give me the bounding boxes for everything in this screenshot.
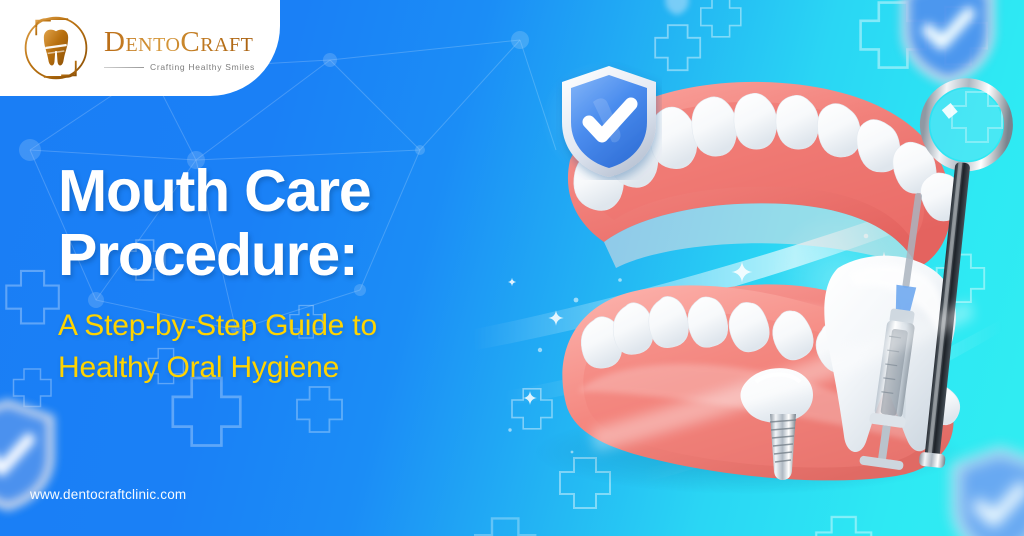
headline-line-1: Mouth Care: [58, 158, 371, 224]
dental-marketing-banner: DentoCraft Crafting Healthy Smiles Mouth…: [0, 0, 1024, 536]
hero-copy: Mouth Care Procedure: A Step-by-Step Gui…: [58, 160, 578, 388]
website-url[interactable]: www.dentocraftclinic.com: [30, 487, 186, 502]
page-subtitle: A Step-by-Step Guide to Healthy Oral Hyg…: [58, 305, 578, 388]
brand-logo: DentoCraft Crafting Healthy Smiles: [18, 10, 255, 86]
tooth-emblem-icon: [18, 10, 94, 86]
subhead-line-1: A Step-by-Step Guide to: [58, 309, 377, 342]
brand-tagline: Crafting Healthy Smiles: [150, 62, 255, 72]
brand-tagline-row: Crafting Healthy Smiles: [104, 62, 255, 72]
page-title: Mouth Care Procedure:: [58, 160, 578, 287]
shield-check-badge-icon: [556, 62, 662, 180]
brand-name: DentoCraft: [104, 28, 255, 57]
headline-line-2: Procedure:: [58, 224, 578, 288]
logo-header-card: DentoCraft Crafting Healthy Smiles: [0, 0, 280, 96]
subhead-line-2: Healthy Oral Hygiene: [58, 347, 578, 388]
tagline-rule: [104, 67, 144, 68]
